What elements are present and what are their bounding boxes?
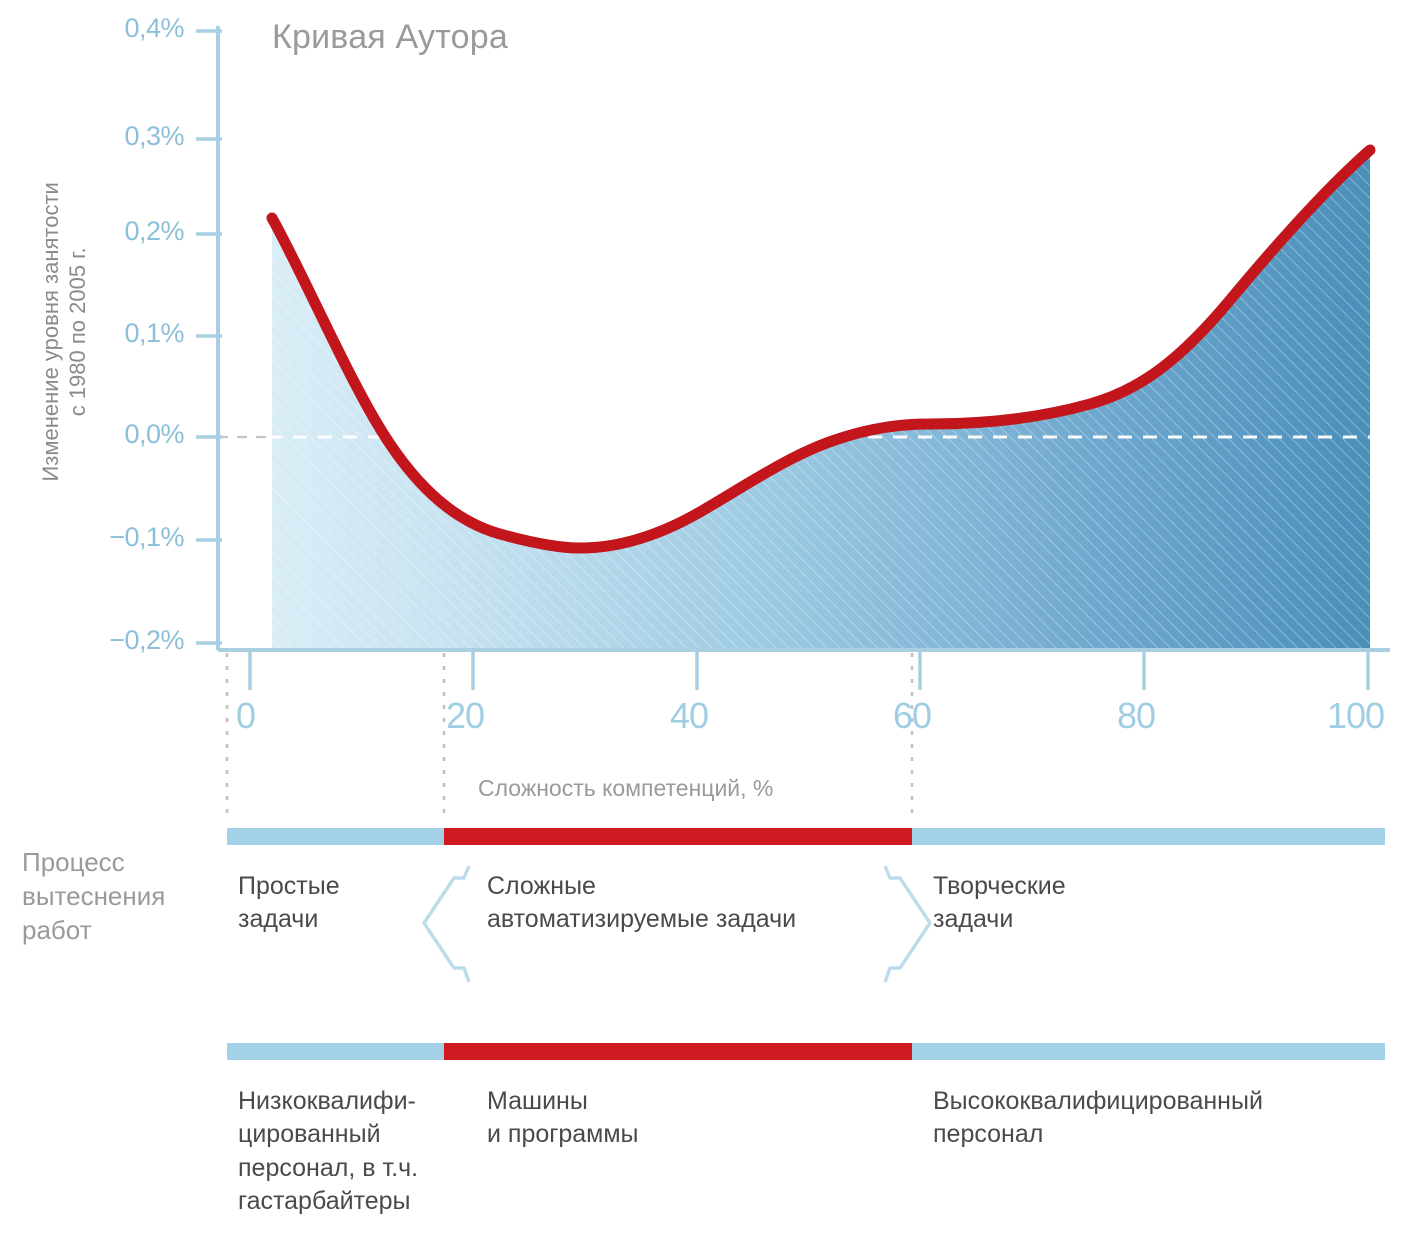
y-tick-label: 0,4%: [64, 13, 184, 44]
chart-title: Кривая Аутора: [272, 18, 508, 57]
x-tick-marks: [250, 650, 1368, 690]
process-bar-simple: [227, 828, 444, 845]
process-bar-automatable: [444, 828, 912, 845]
chevron-right-icon: [872, 860, 942, 990]
x-tick-label: 80: [1117, 695, 1155, 737]
workforce-bar-machines: [444, 1043, 912, 1060]
workforce-bar-lowskill: [227, 1043, 444, 1060]
workforce-bar-highskill: [912, 1043, 1385, 1060]
workforce-label-machines: Машины и программы: [487, 1085, 639, 1152]
x-tick-label: 100: [1327, 695, 1384, 737]
x-axis-title: Сложность компетенций, %: [478, 775, 773, 802]
infographic-root: Кривая Аутора Изменение уровня занятости…: [0, 0, 1417, 1235]
process-label-creative: Творческие задачи: [933, 870, 1066, 937]
y-tick-label: 0,1%: [64, 318, 184, 349]
process-label-automatable: Сложные автоматизируемые задачи: [487, 870, 796, 937]
y-tick-label: 0,2%: [64, 216, 184, 247]
workforce-band: Низкоквалифи- цированный персонал, в т.ч…: [0, 1043, 1417, 1235]
process-label-simple: Простые задачи: [238, 870, 340, 937]
x-tick-label: 0: [236, 695, 255, 737]
chart-canvas: [0, 0, 1417, 820]
x-tick-label: 60: [893, 695, 931, 737]
y-tick-labels: 0,4% 0,3% 0,2% 0,1% 0,0% −0,1% −0,2%: [0, 0, 184, 820]
x-tick-label: 20: [446, 695, 484, 737]
area-fill: [272, 140, 1370, 650]
process-band-side-label: Процесс вытеснения работ: [22, 846, 165, 947]
y-tick-label: −0,2%: [64, 625, 184, 656]
process-band: Процесс вытеснения работ Простые задачи …: [0, 828, 1417, 1028]
workforce-label-lowskill: Низкоквалифи- цированный персонал, в т.ч…: [238, 1085, 418, 1218]
chevron-left-icon: [412, 860, 482, 990]
y-tick-label: 0,0%: [64, 419, 184, 450]
y-tick-label: −0,1%: [64, 522, 184, 553]
process-bar-creative: [912, 828, 1385, 845]
y-tick-label: 0,3%: [64, 121, 184, 152]
chart-area: Кривая Аутора Изменение уровня занятости…: [0, 0, 1417, 820]
x-tick-label: 40: [670, 695, 708, 737]
workforce-label-highskill: Высококвалифицированный персонал: [933, 1085, 1263, 1152]
